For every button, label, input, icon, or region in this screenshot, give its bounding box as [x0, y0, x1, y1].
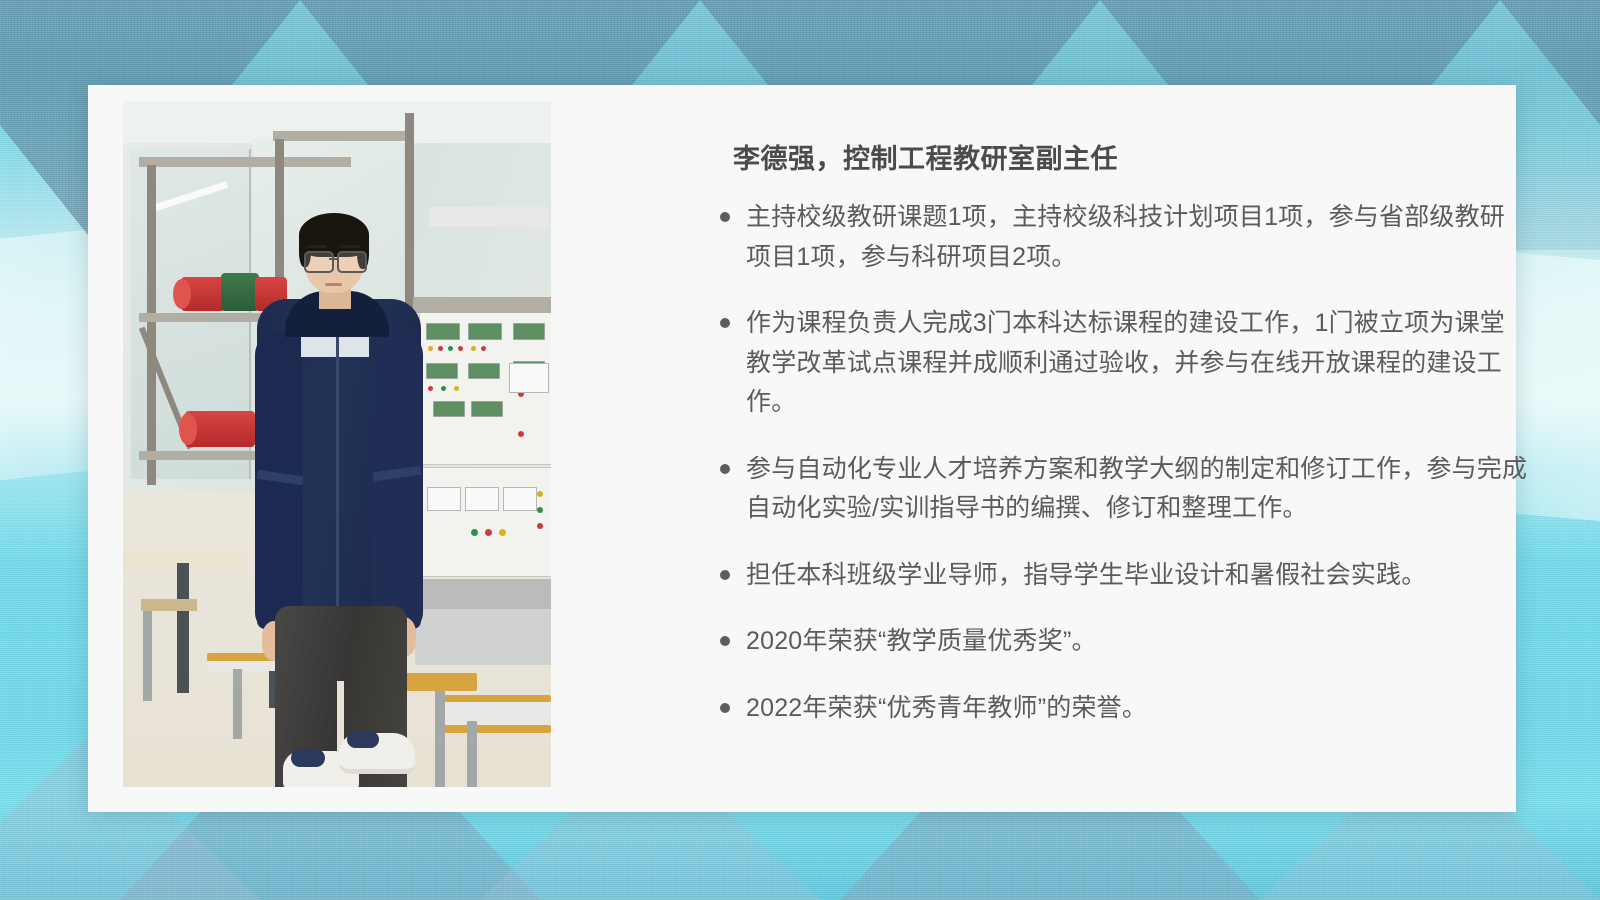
page-title: 李德强，控制工程教研室副主任 [733, 137, 1118, 176]
list-item-text: 2020年荣获“教学质量优秀奖”。 [746, 627, 1097, 655]
list-item: 主持校级教研课题1项，主持校级科技计划项目1项，参与省部级教研项目1项，参与科研… [718, 198, 1528, 277]
list-item-text: 2022年荣获“优秀青年教师”的荣誉。 [746, 694, 1147, 722]
bullet-icon [720, 464, 730, 474]
list-item: 参与自动化专业人才培养方案和教学大纲的制定和修订工作，参与完成自动化实验/实训指… [718, 450, 1528, 529]
bullet-icon [720, 636, 730, 646]
profile-photo [123, 101, 551, 787]
list-item-text: 担任本科班级学业导师，指导学生毕业设计和暑假社会实践。 [746, 561, 1426, 589]
list-item: 2022年荣获“优秀青年教师”的荣誉。 [718, 689, 1528, 729]
achievement-list: 主持校级教研课题1项，主持校级科技计划项目1项，参与省部级教研项目1项，参与科研… [718, 198, 1528, 755]
list-item-text: 参与自动化专业人才培养方案和教学大纲的制定和修订工作，参与完成自动化实验/实训指… [746, 455, 1527, 523]
bullet-icon [720, 212, 730, 222]
profile-card: 李德强，控制工程教研室副主任 主持校级教研课题1项，主持校级科技计划项目1项，参… [88, 85, 1516, 812]
list-item: 担任本科班级学业导师，指导学生毕业设计和暑假社会实践。 [718, 556, 1528, 596]
list-item: 作为课程负责人完成3门本科达标课程的建设工作，1门被立项为课堂教学改革试点课程并… [718, 304, 1528, 423]
bullet-icon [720, 318, 730, 328]
slide-root: 李德强，控制工程教研室副主任 主持校级教研课题1项，主持校级科技计划项目1项，参… [0, 0, 1600, 900]
bullet-icon [720, 703, 730, 713]
profile-text-column: 李德强，控制工程教研室副主任 主持校级教研课题1项，主持校级科技计划项目1项，参… [588, 101, 1493, 791]
list-item-text: 主持校级教研课题1项，主持校级科技计划项目1项，参与省部级教研项目1项，参与科研… [746, 203, 1505, 271]
bullet-icon [720, 570, 730, 580]
list-item-text: 作为课程负责人完成3门本科达标课程的建设工作，1门被立项为课堂教学改革试点课程并… [746, 309, 1505, 416]
list-item: 2020年荣获“教学质量优秀奖”。 [718, 622, 1528, 662]
